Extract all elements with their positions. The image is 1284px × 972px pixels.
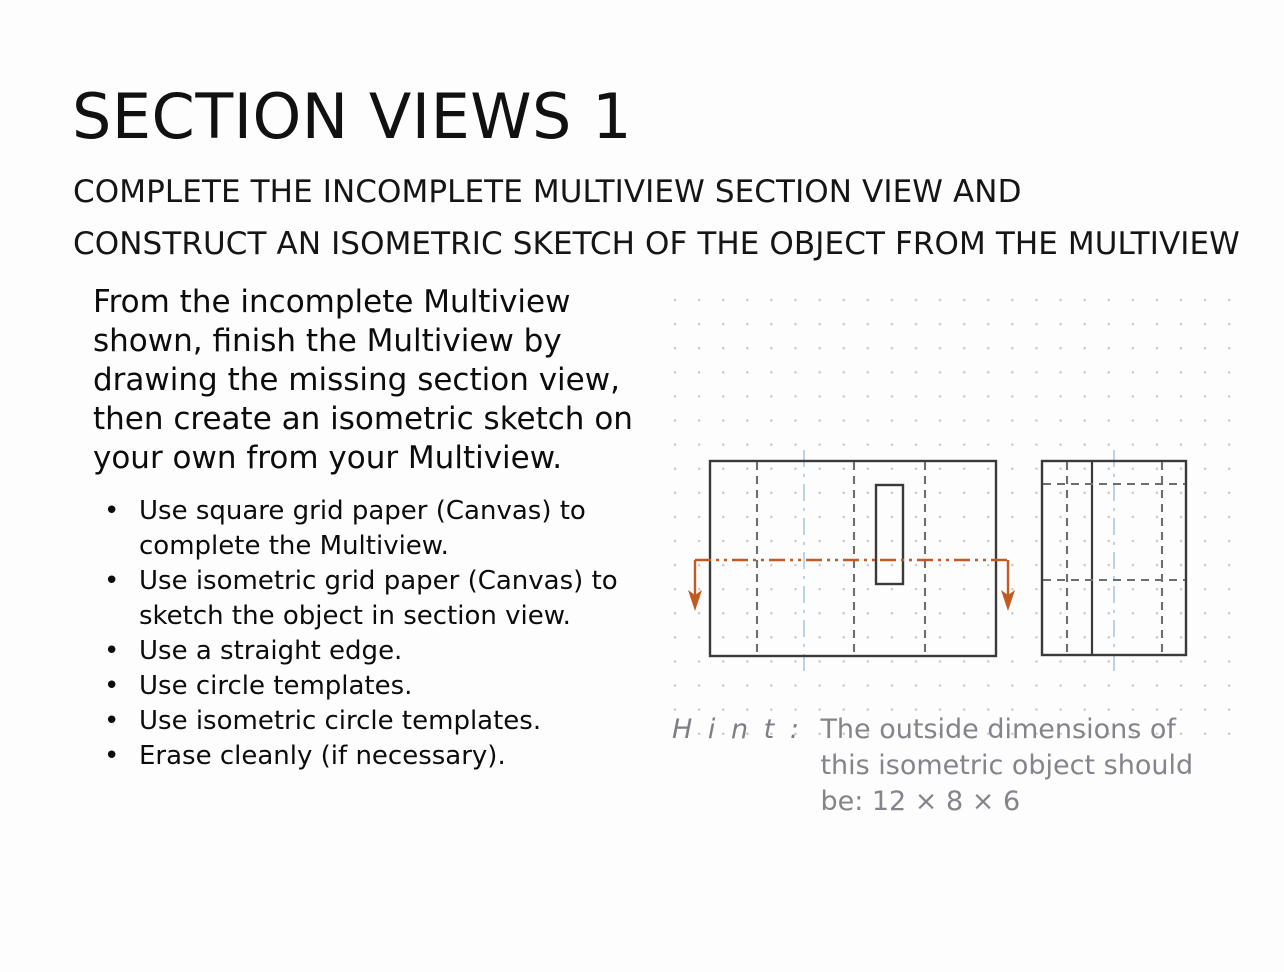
list-item: • Use circle templates. <box>93 669 673 704</box>
list-item-label: Use isometric grid paper (Canvas) to ske… <box>139 566 618 631</box>
front-view <box>710 461 996 656</box>
front-view-slot-outline <box>876 485 903 584</box>
list-item: • Use a straight edge. <box>93 634 673 669</box>
page-title: SECTION VIEWS 1 <box>72 86 632 148</box>
hint-label: H i n t : <box>672 712 820 748</box>
front-view-hidden-lines <box>757 462 925 655</box>
list-item-label: Use a straight edge. <box>139 636 402 666</box>
list-item-label: Use square grid paper (Canvas) to comple… <box>139 496 586 561</box>
hint-block: H i n t : The outside dimensions of this… <box>672 712 1232 820</box>
list-item-label: Use circle templates. <box>139 671 412 701</box>
hint-text: The outside dimensions of this isometric… <box>820 712 1220 820</box>
subtitle-block: COMPLETE THE INCOMPLETE MULTIVIEW SECTIO… <box>73 166 1263 270</box>
list-item: • Use isometric circle templates. <box>93 704 673 739</box>
bullet-dot-icon: • <box>104 564 119 599</box>
multiview-drawing <box>655 280 1255 745</box>
subtitle-line-1: COMPLETE THE INCOMPLETE MULTIVIEW SECTIO… <box>73 166 1263 218</box>
list-item: • Use square grid paper (Canvas) to comp… <box>93 494 673 564</box>
bullet-dot-icon: • <box>104 494 119 529</box>
intro-paragraph: From the incomplete Multiview shown, fin… <box>93 283 638 478</box>
bullet-dot-icon: • <box>104 704 119 739</box>
subtitle-line-2: CONSTRUCT AN ISOMETRIC SKETCH OF THE OBJ… <box>73 218 1263 270</box>
bullet-dot-icon: • <box>104 739 119 774</box>
list-item-label: Erase cleanly (if necessary). <box>139 741 506 771</box>
list-item: • Use isometric grid paper (Canvas) to s… <box>93 564 673 634</box>
instruction-bullet-list: • Use square grid paper (Canvas) to comp… <box>93 494 673 774</box>
cutting-plane-line <box>688 560 1015 611</box>
multiview-drawing-panel <box>655 280 1255 745</box>
instructions-column: From the incomplete Multiview shown, fin… <box>93 283 673 774</box>
bullet-dot-icon: • <box>104 669 119 704</box>
list-item: • Erase cleanly (if necessary). <box>93 739 673 774</box>
list-item-label: Use isometric circle templates. <box>139 706 541 736</box>
bullet-dot-icon: • <box>104 634 119 669</box>
